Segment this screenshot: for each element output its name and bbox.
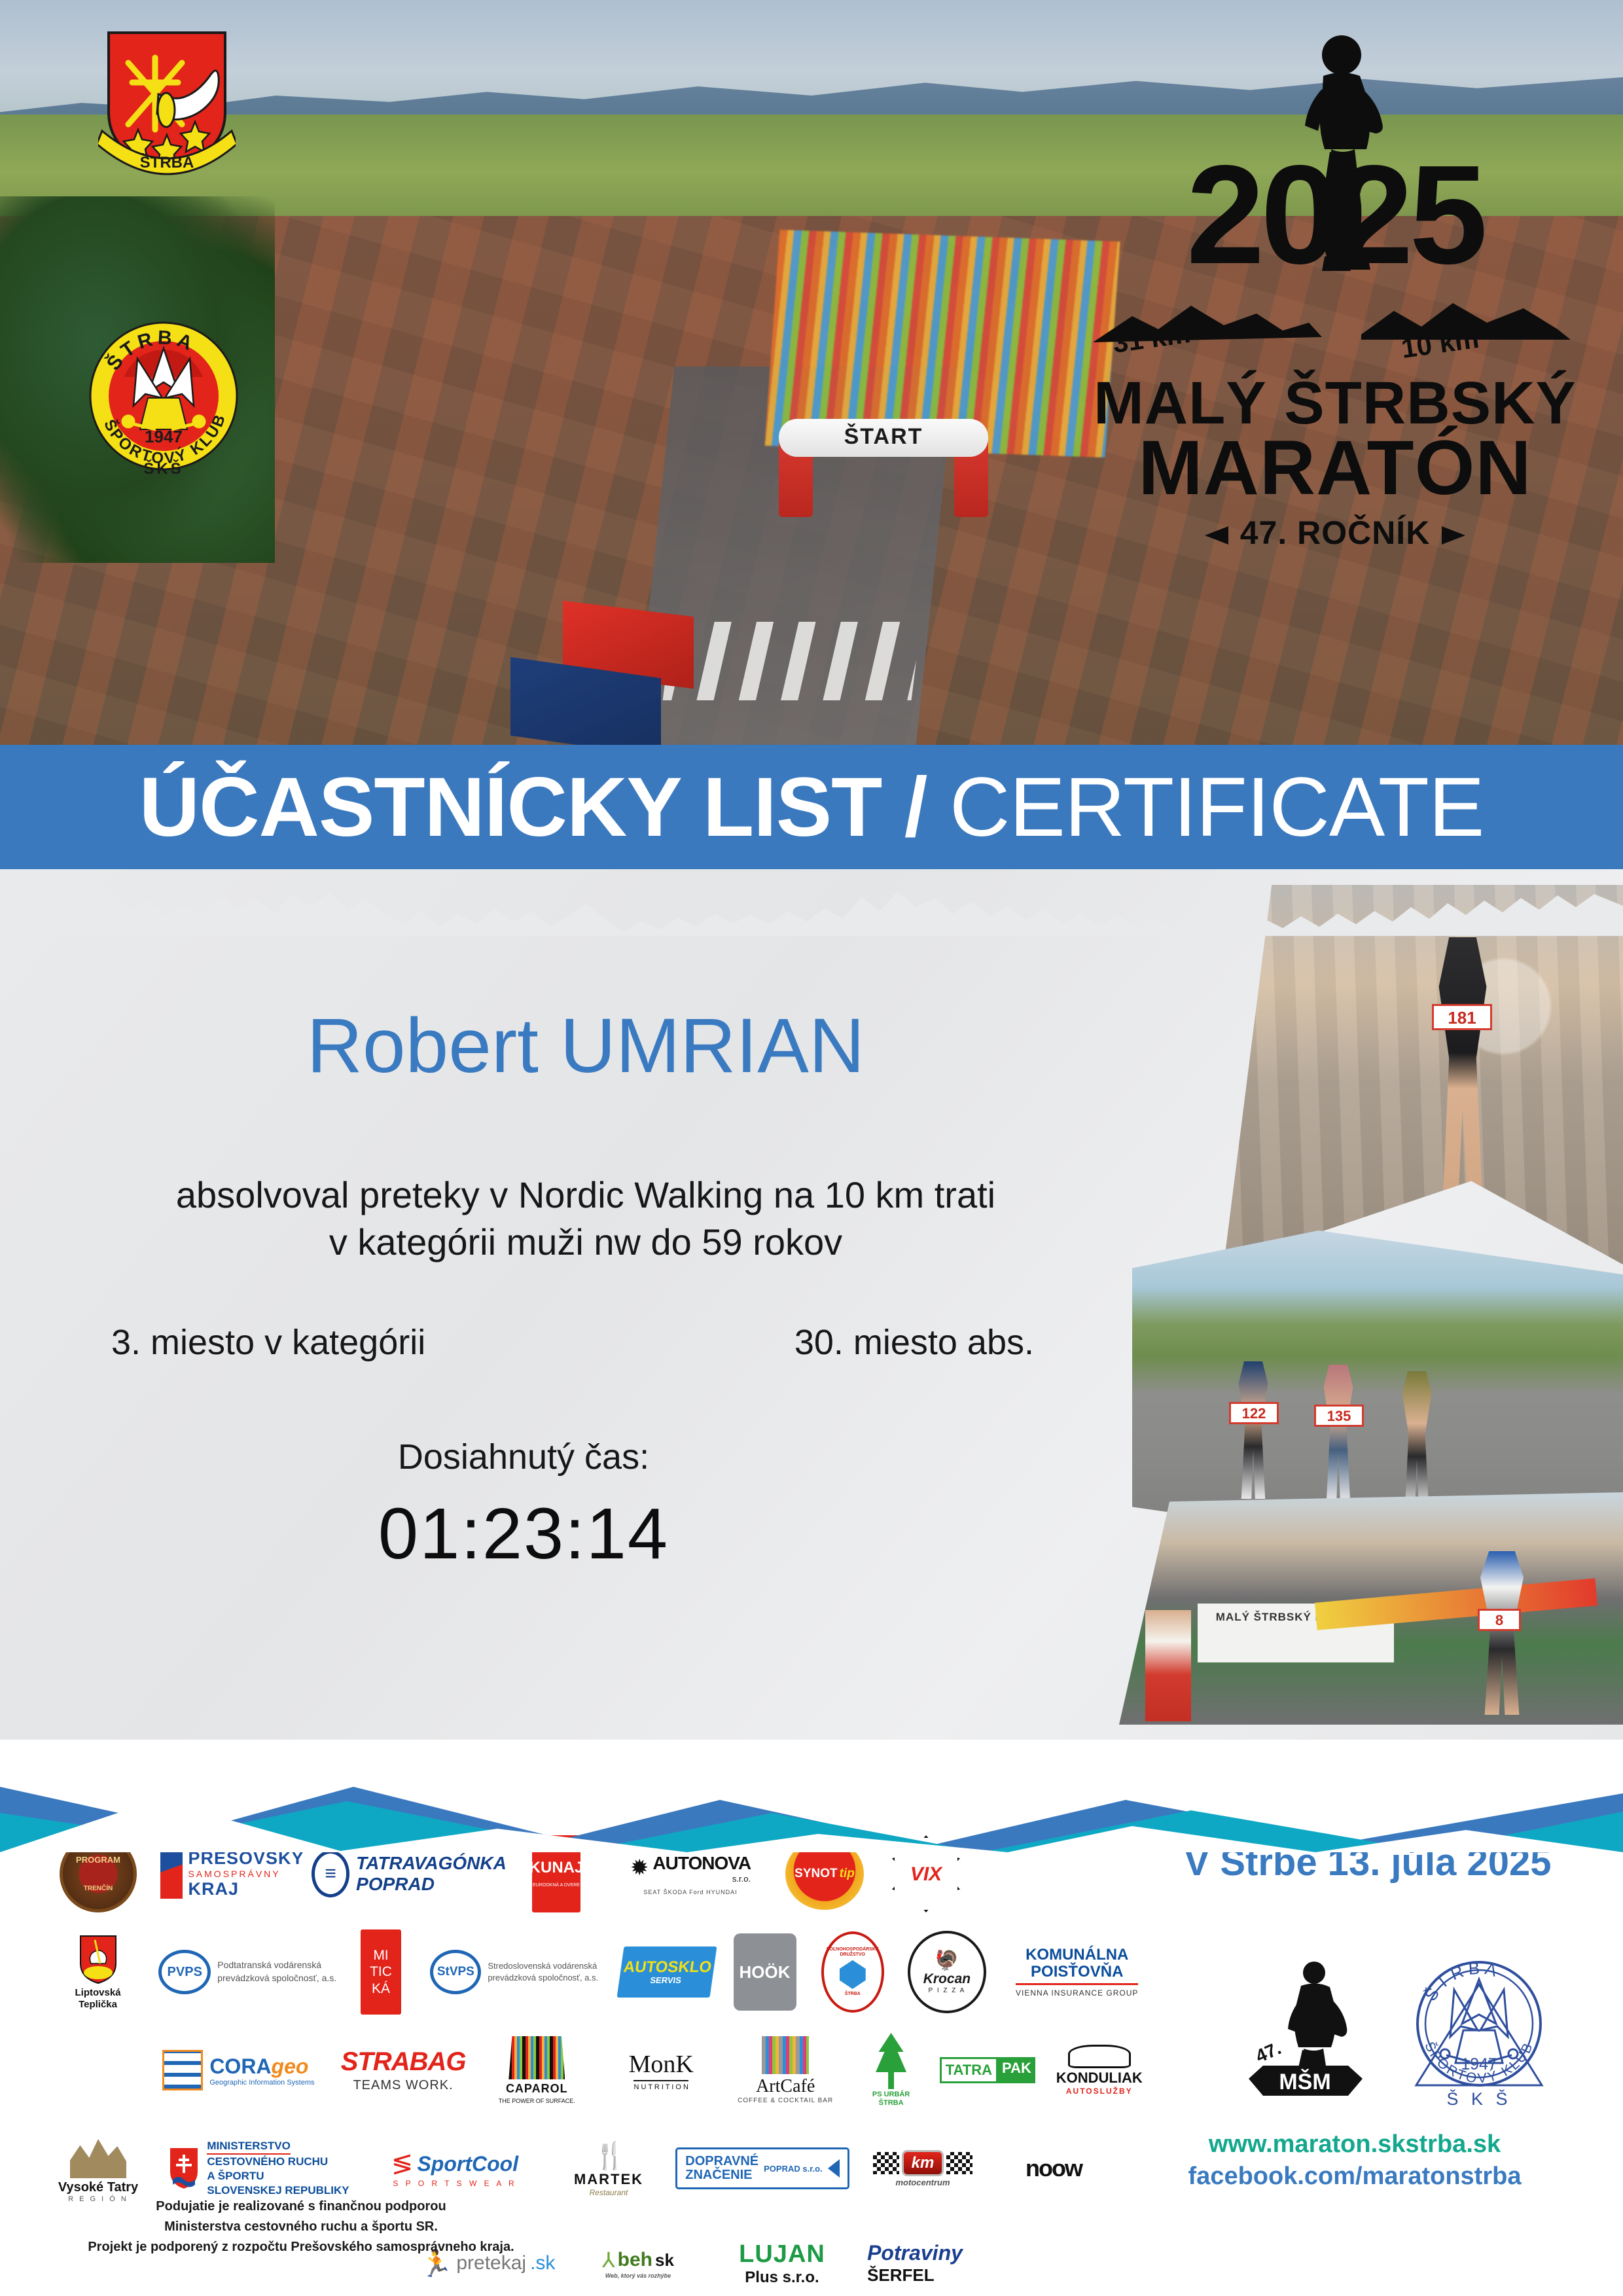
sponsor-line-2: tip	[840, 1867, 855, 1881]
club-abbr-label: ŠKŠ	[143, 459, 183, 478]
sponsor-line-1: MI	[373, 1948, 388, 1963]
finish-tape	[1315, 1578, 1597, 1630]
sponsor-row: Liptovská Teplička PVPS Podtatranská vod…	[46, 1923, 1158, 2021]
sponsor-line-1: PVPS	[168, 1965, 202, 1980]
participant-description: absolvoval preteky v Nordic Walking na 1…	[0, 1172, 1171, 1265]
sponsor-line-3: SEAT ŠKODA Ford HYUNDAI	[643, 1889, 737, 1895]
official-stamps: 47. MŠM	[1158, 1950, 1577, 2114]
sponsor-logo: MonK N U T R I T I O N	[599, 2050, 723, 2091]
description-line-1: absolvoval preteky v Nordic Walking na 1…	[0, 1172, 1171, 1219]
sponsor-line-2: Plus s.r.o.	[745, 2269, 819, 2287]
bib-number: 135	[1314, 1405, 1364, 1427]
website-url[interactable]: www.maraton.skstrba.sk	[1132, 2128, 1577, 2161]
sponsor-logo: ⅄ behsk Web, ktorý vás rozhýbe	[563, 2248, 713, 2279]
turkey-icon: 🦃	[935, 1950, 959, 1971]
sponsor-logo: PVPS Podtatranská vodárenská prevádzková…	[150, 1950, 345, 1994]
bib-number: 122	[1229, 1402, 1279, 1424]
sponsor-line-2: Restaurant	[590, 2188, 628, 2197]
sponsor-line-2: THE POWER OF SURFACE.	[499, 2098, 575, 2104]
contact-urls: www.maraton.skstrba.sk facebook.com/mara…	[1132, 2128, 1577, 2192]
sponsor-line-3: prevádzková spoločnosť, a.s.	[488, 1972, 598, 1984]
sponsor-line-2: Teplička	[79, 1999, 117, 2010]
sponsor-line-2: ZNAČENIE	[685, 2168, 758, 2182]
photo-winner-finish-line: MALÝ ŠTRBSKÝ MARATÓN 8	[1119, 1492, 1623, 1725]
sponsor-logo: DOPRAVNÉ ZNAČENIE POPRAD s.r.o.	[674, 2147, 851, 2189]
tatravagonka-mark-icon: ≡	[312, 1850, 349, 1897]
sponsor-logo: 🦃 Krocan P I Z Z A	[898, 1931, 995, 2013]
logo-edition-label: 47. ROČNÍK	[1240, 514, 1431, 551]
sponsor-line-3: POPRAD s.r.o.	[764, 2164, 823, 2174]
checkered-flag-icon	[946, 2152, 972, 2174]
runner-figure	[1315, 1365, 1361, 1502]
sponsor-line-2: AUTOSLUŽBY	[1066, 2087, 1133, 2096]
sponsor-line-3: KÁ	[372, 1981, 390, 1996]
sponsor-line-1: Liptovská	[75, 1987, 121, 1998]
photo-collage: 181 122 135 MALÝ ŠTRBSKÝ MARATÓN 8	[1113, 877, 1623, 1728]
sportovy-klub-strba-logo: 1947 ŠTRBA ŠPORTOVÝ KLUB ŠKŠ	[85, 314, 242, 478]
sponsor-line-1: Krocan	[923, 1971, 971, 1986]
sponsor-line-1: CAPAROL	[506, 2082, 568, 2096]
participant-name: Robert UMRIAN	[0, 1001, 1171, 1090]
sponsor-line-1: km	[902, 2150, 944, 2176]
arrow-right-icon	[1442, 526, 1465, 545]
sponsor-line-3: KRAJ	[188, 1879, 304, 1899]
sponsor-logo: STRABAG TEAMS WORK.	[332, 2047, 474, 2093]
sponsor-line-3: Geographic Information Systems	[209, 2079, 314, 2087]
sponsor-line-1: TATRAVAGÓNKA	[356, 1853, 507, 1874]
runner-figure	[1230, 1361, 1276, 1499]
time-value: 01:23:14	[0, 1492, 1047, 1575]
msm-stamp: 47. MŠM	[1230, 1957, 1381, 2108]
caparol-stripes-icon	[508, 2036, 565, 2079]
sponsor-line-2: POPRAD	[356, 1874, 507, 1895]
sponsor-line-2: PAK	[998, 2057, 1035, 2083]
sponsor-line-2: TRENČÍN	[84, 1885, 113, 1892]
winner-figure	[1466, 1551, 1538, 1715]
sponsor-logo: KOMUNÁLNA POISŤOVŇA VIENNA INSURANCE GRO…	[995, 1946, 1158, 1997]
liptovska-teplicka-crest-icon	[78, 1933, 118, 1984]
sponsor-line-2: N U T R I T I O N	[633, 2080, 688, 2091]
sponsor-line-1: DOPRAVNÉ	[685, 2155, 758, 2168]
runner-figure	[1420, 937, 1505, 1212]
logo-year: 2025	[1086, 144, 1584, 285]
bib-number: 181	[1432, 1004, 1492, 1030]
sponsor-line-1: Potraviny	[867, 2241, 963, 2265]
sponsor-line-1: AUTONOVA	[652, 1853, 751, 1874]
sponsor-logo: 🍴 MARTEK Restaurant	[543, 2140, 674, 2197]
sponsor-logo: PS URBÁR ŠTRBA	[847, 2033, 935, 2108]
sponsor-logo: MINISTERSTVO CESTOVNÉHO RUCHU A ŠPORTU S…	[151, 2139, 366, 2198]
sponsor-logo: CAPAROL THE POWER OF SURFACE.	[474, 2036, 599, 2104]
sponsor-line-2: COFFEE & COCKTAIL BAR	[738, 2097, 833, 2104]
sponsor-logo: ✹ AUTONOVA s.r.o. SEAT ŠKODA Ford HYUNDA…	[609, 1853, 772, 1895]
sponsor-logo: CORAgeo Geographic Information Systems	[145, 2050, 332, 2090]
sponsor-logo: POĽNOHOSPODÁRSKE DRUŽSTVO ŠTRBA	[807, 1931, 898, 2013]
certificate-page: ŠTART ŠTRBA	[0, 0, 1623, 2296]
sponsor-line-2: SAMOSPRÁVNY	[188, 1869, 304, 1879]
urbar-tree-icon	[873, 2033, 910, 2089]
sponsor-logo: ≶ SportCool S P O R T S W E A R	[366, 2149, 543, 2188]
title-bold: ÚČASTNÍCKY LIST	[139, 761, 882, 854]
sponsor-line-1: SYNOT	[794, 1867, 837, 1881]
title-light: CERTIFICATE	[950, 761, 1484, 854]
sponsor-line-3: A ŠPORTU	[207, 2169, 349, 2183]
sponsor-line-1: MonK	[629, 2050, 694, 2079]
sponsor-logo: HOÖK	[722, 1933, 807, 2011]
crosswalk	[663, 622, 921, 700]
start-arch-label: ŠTART	[779, 424, 988, 450]
sponsor-line-2: SERVIS	[650, 1976, 682, 1985]
sponsor-line-3: VIENNA INSURANCE GROUP	[1016, 1988, 1138, 1998]
sponsor-line-1: HOÖK	[740, 1963, 791, 1982]
sponsor-logo: Liptovská Teplička	[46, 1933, 150, 2011]
mountain-separator	[0, 1702, 1623, 1852]
sponsor-line-1: KUNAJ	[529, 1859, 584, 1876]
sponsor-line-2: S P O R T S W E A R	[393, 2179, 516, 2188]
sponsor-line-2: P I Z Z A	[929, 1987, 966, 1994]
time-label: Dosiahnutý čas:	[0, 1437, 1047, 1477]
sponsor-line-1: ArtCafé	[756, 2076, 815, 2097]
sponsor-row: CORAgeo Geographic Information Systems S…	[46, 2021, 1158, 2119]
start-arch: ŠTART	[779, 419, 988, 517]
autonova-star-icon: ✹	[630, 1855, 649, 1881]
slovak-coat-of-arms-icon	[168, 2145, 200, 2191]
sponsor-line-1: AUTOSKLO	[622, 1959, 713, 1976]
corageo-grid-icon	[162, 2050, 203, 2090]
sponsor-line-2: motocentrum	[895, 2178, 950, 2187]
logo-edition-row: 47. ROČNÍK	[1086, 514, 1584, 552]
sponsor-line-2: Stredoslovenská vodárenská	[488, 1960, 598, 1972]
sponsor-logo: noow	[995, 2155, 1113, 2182]
marathon-logo: 2025 31 km 10 km MALÝ ŠTRBSKÝ MARATÓN 47…	[1086, 33, 1584, 576]
arrow-left-icon	[1205, 526, 1228, 545]
bib-number: 8	[1478, 1609, 1521, 1631]
sponsor-line-1: VIX	[910, 1863, 942, 1885]
logo-name-line2: MARATÓN	[1086, 429, 1584, 507]
sponsor-line-1: StVPS	[437, 1965, 474, 1979]
sks-abbr-label: Š K Š	[1446, 2089, 1511, 2109]
sponsor-line-1: beh	[618, 2249, 652, 2271]
sponsor-line-1: noow	[1026, 2155, 1082, 2182]
msm-abbr-label: MŠM	[1279, 2069, 1330, 2094]
pd-shield-icon	[840, 1960, 866, 1989]
sponsor-logo: km motocentrum	[851, 2150, 995, 2187]
jagged-mountain-edge	[0, 851, 1623, 936]
sponsor-line-1: LUJAN	[739, 2240, 825, 2269]
sponsor-logo: ≡ TATRAVAGÓNKA POPRAD	[314, 1850, 504, 1897]
sponsor-logo: AUTOSKLO SERVIS	[612, 1946, 722, 1998]
description-line-2: v kategórii muži nw do 59 rokov	[0, 1219, 1171, 1266]
sponsor-line-2: Podtatranská vodárenská	[217, 1959, 336, 1972]
sponsor-line-2: sk	[655, 2250, 674, 2270]
page-title: ÚČASTNÍCKY LIST / CERTIFICATE	[0, 759, 1623, 855]
figure-icon: ⅄	[602, 2248, 615, 2272]
club-year-label: 1947	[145, 427, 183, 446]
sponsor-footer: PROGRAM TRENČÍN PREŠOVSKÝ SAMOSPRÁVNY KR…	[0, 1806, 1623, 2296]
sponsor-line-3: prevádzková spoločnosť, a.s.	[217, 1972, 336, 1985]
disclaimer-line-2: Ministerstva cestovného ruchu a športu S…	[52, 2217, 550, 2237]
sponsor-logo: ArtCafé COFFEE & COCKTAIL BAR	[723, 2036, 847, 2104]
disclaimer-line-1: Podujatie je realizované s finančnou pod…	[52, 2197, 550, 2217]
sponsor-line-2: TEAMS WORK.	[353, 2078, 453, 2093]
distance-mountains: 31 km 10 km	[1086, 291, 1584, 363]
runner-figure	[1394, 1371, 1440, 1509]
sponsor-line-2: CESTOVNÉHO RUCHU	[207, 2155, 349, 2169]
sponsor-line-2: POISŤOVŇA	[1031, 1963, 1123, 1981]
sponsor-line-1: STRABAG	[341, 2047, 466, 2077]
funding-disclaimer: Podujatie je realizované s finančnou pod…	[52, 2197, 550, 2257]
sportcool-swoosh-icon: ≶	[391, 2149, 414, 2179]
place-in-category: 3. miesto v kategórii	[111, 1322, 425, 1363]
sponsor-logo: KONDULIAK AUTOSLUŽBY	[1041, 2045, 1158, 2096]
sponsor-logo: TATRA PAK	[935, 2057, 1040, 2083]
title-separator: /	[882, 761, 950, 854]
sponsor-logo: PREŠOVSKÝ SAMOSPRÁVNY KRAJ	[151, 1848, 314, 1899]
sponsor-line-2: geo	[272, 2054, 309, 2078]
konduliak-car-icon	[1068, 2045, 1131, 2068]
facebook-url[interactable]: facebook.com/maratonstrba	[1132, 2161, 1577, 2193]
sponsor-line-1: PS URBÁR	[872, 2090, 910, 2098]
sponsor-line-2: ŠTRBA	[845, 1992, 861, 1997]
sponsor-line-4: SLOVENSKEJ REPUBLIKY	[207, 2183, 349, 2198]
strba-coat-of-arms: ŠTRBA	[98, 26, 236, 177]
sponsor-line-2: s.r.o.	[652, 1874, 751, 1884]
disclaimer-line-3: Projekt je podporený z rozpočtu Prešovsk…	[52, 2237, 550, 2257]
placement-row: 3. miesto v kategórii 30. miesto abs.	[85, 1322, 1106, 1368]
sponsor-line-2: EUROOKNÁ A DVERE	[533, 1883, 580, 1888]
sponsor-logo: Potraviny ŠERFEL	[851, 2241, 1014, 2286]
sponsor-logo: Vysoké Tatry R E G I Ó N	[46, 2134, 151, 2203]
sponsor-line-1: MARTEK	[574, 2171, 643, 2188]
psk-mark-icon	[160, 1849, 183, 1899]
pvps-mark-icon: PVPS	[158, 1950, 211, 1994]
checkered-flag-icon	[873, 2152, 899, 2174]
vysoke-tatry-mountain-icon	[70, 2134, 126, 2178]
sponsor-line-1: PROGRAM	[76, 1856, 120, 1865]
sks-stamp: 1947 ŠTRBA ŠPORTOVÝ KLUB Š K Š	[1400, 1950, 1558, 2114]
photo-female-finisher: 181	[1224, 885, 1623, 1265]
sponsor-logo: MI TIC KÁ	[345, 1929, 416, 2015]
arrow-left-icon	[828, 2159, 840, 2178]
sponsor-logo: StVPS Stredoslovenská vodárenská prevádz…	[417, 1950, 612, 1994]
sponsor-line-2: ŠERFEL	[867, 2265, 963, 2286]
sponsor-line-1: MINISTERSTVO	[207, 2139, 291, 2155]
sponsor-line-2: ŠTRBA	[879, 2099, 904, 2107]
coa-label: ŠTRBA	[140, 153, 194, 171]
sponsor-line-1: Vysoké Tatry	[58, 2180, 138, 2195]
msm-edition-label: 47.	[1253, 2037, 1284, 2066]
place-absolute: 30. miesto abs.	[794, 1322, 1034, 1363]
sponsor-line-2: TIC	[370, 1964, 392, 1979]
sponsor-line-1: KOMUNÁLNA	[1026, 1946, 1128, 1964]
sponsor-line-1: CORA	[209, 2054, 271, 2078]
sponsor-line-1: KONDULIAK	[1056, 2070, 1143, 2087]
artcafe-stripes-icon	[762, 2036, 809, 2074]
sponsor-line-3: Web, ktorý vás rozhýbe	[605, 2272, 671, 2279]
cutlery-icon: 🍴	[594, 2140, 624, 2171]
sponsor-logo: LUJAN Plus s.r.o.	[713, 2240, 851, 2287]
sponsor-line-1: POĽNOHOSPODÁRSKE DRUŽSTVO	[827, 1947, 879, 1957]
sponsor-line-1: SportCool	[417, 2152, 518, 2176]
stvps-mark-icon: StVPS	[430, 1950, 481, 1994]
sponsor-line-1: TATRA	[940, 2057, 998, 2083]
